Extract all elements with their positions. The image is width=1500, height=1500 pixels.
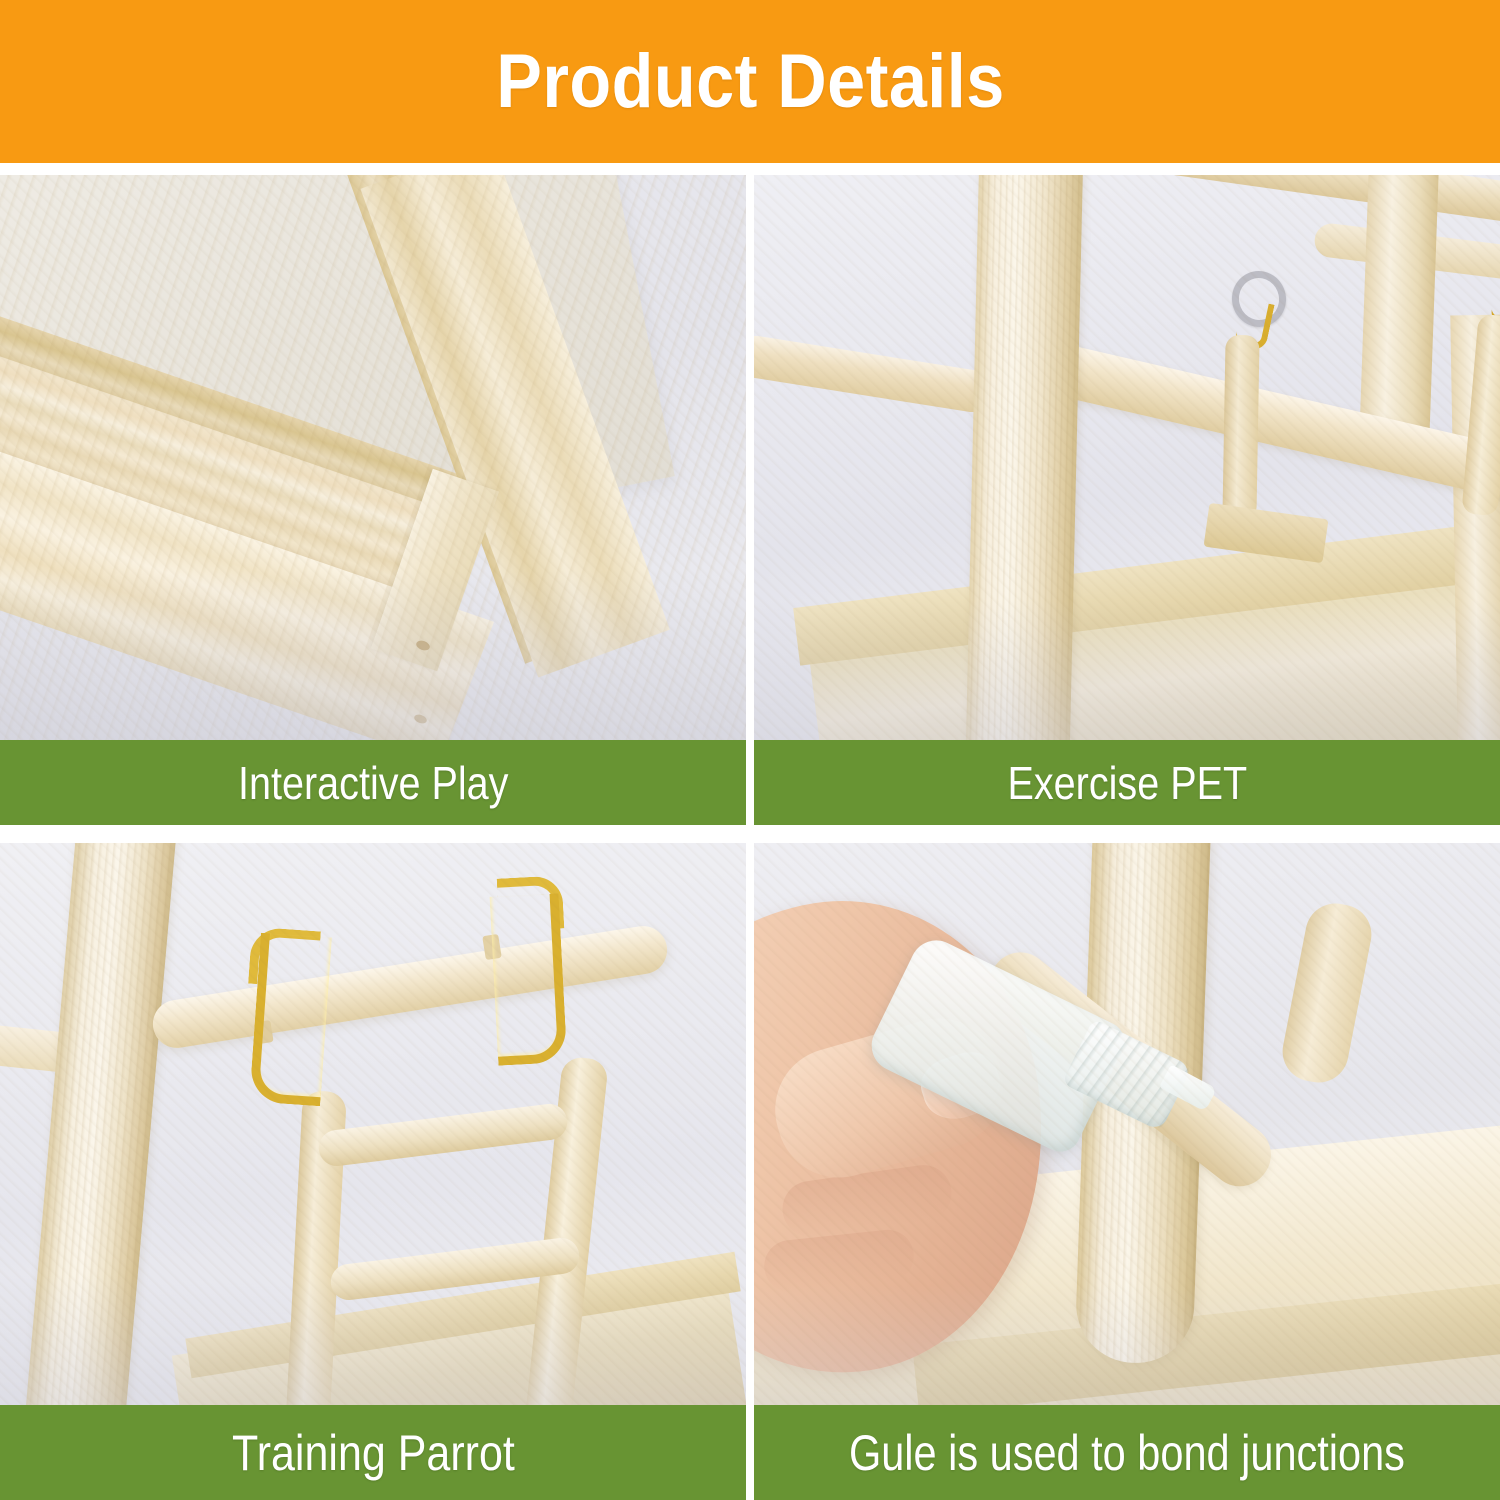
perch-dowel-side xyxy=(1277,898,1376,1087)
caption-bar-exercise-pet: Exercise PET xyxy=(754,740,1500,825)
caption-label: Training Parrot xyxy=(232,1428,515,1478)
photo-hand-applying-glue xyxy=(754,843,1500,1405)
product-detail-grid: Interactive Play xyxy=(0,175,1500,1500)
caption-bar-interactive-play: Interactive Play xyxy=(0,740,746,825)
photo-floor-shadow xyxy=(754,1285,1500,1405)
product-details-page: Product Details Interactive Play xyxy=(0,0,1500,1500)
hanging-ladder-rail xyxy=(1222,335,1259,521)
panel-glue-junctions: Gule is used to bond junctions xyxy=(754,843,1500,1500)
photo-floor-shadow xyxy=(0,570,746,740)
photo-wood-tray-corner-joint xyxy=(0,175,746,740)
caption-bar-training-parrot: Training Parrot xyxy=(0,1405,746,1500)
photo-floor-shadow xyxy=(754,600,1500,740)
wood-block-accent xyxy=(1204,503,1329,563)
horizontal-perch-dowel xyxy=(149,923,670,1052)
photo-ladder-on-gold-hooks xyxy=(0,843,746,1405)
caption-label: Gule is used to bond junctions xyxy=(849,1428,1405,1478)
page-title: Product Details xyxy=(496,44,1004,120)
panel-exercise-pet: Exercise PET xyxy=(754,175,1500,825)
gold-s-hook-icon xyxy=(490,893,568,1065)
photo-floor-shadow xyxy=(0,1275,746,1405)
photo-post-and-perch-joints xyxy=(754,175,1500,740)
page-header-banner: Product Details xyxy=(0,0,1500,163)
panel-interactive-play: Interactive Play xyxy=(0,175,746,825)
perch-dowel-left xyxy=(754,333,996,415)
caption-label: Exercise PET xyxy=(1007,760,1247,806)
panel-training-parrot: Training Parrot xyxy=(0,843,746,1500)
caption-bar-glue-junctions: Gule is used to bond junctions xyxy=(754,1405,1500,1500)
caption-label: Interactive Play xyxy=(238,760,508,806)
gold-s-hook-icon xyxy=(249,933,332,1107)
ladder-rung xyxy=(317,1102,570,1168)
